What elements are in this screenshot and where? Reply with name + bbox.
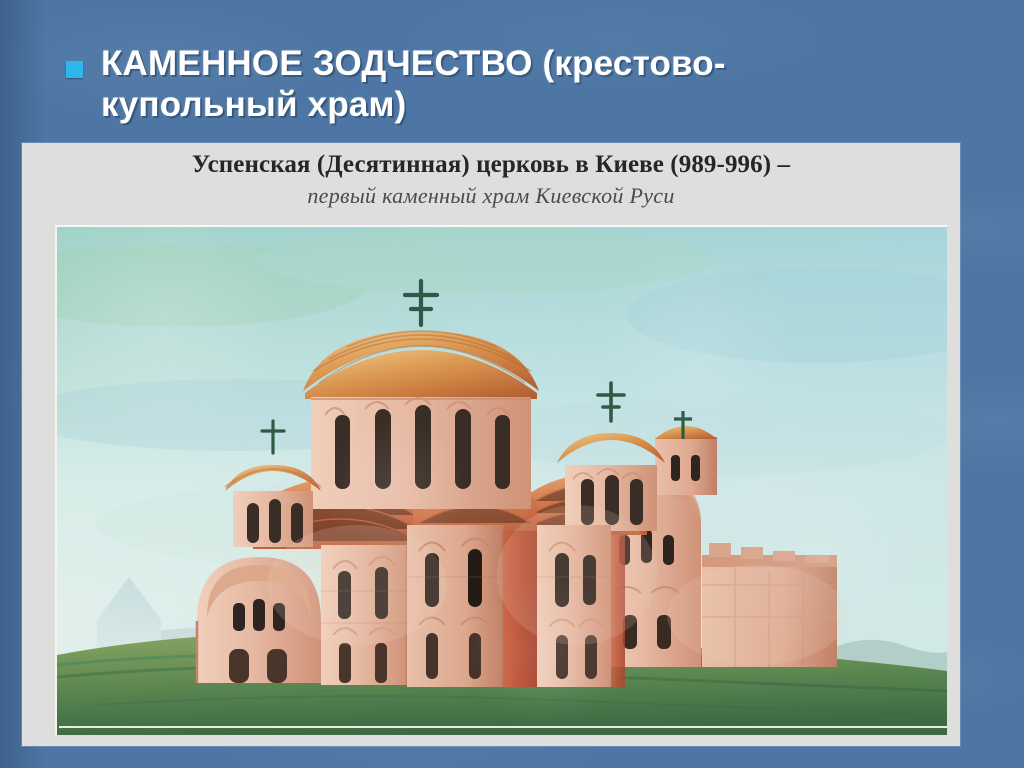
painting-top-border [57,225,947,227]
page-title: КАМЕННОЕ ЗОДЧЕСТВО (крестово- купольный … [101,44,726,125]
caption-line-2: первый каменный храм Киевской Руси [22,183,960,209]
title-line-1: КАМЕННОЕ ЗОДЧЕСТВО (крестово- [101,44,726,83]
painting-bottom-border [59,726,947,728]
figure-panel: Успенская (Десятинная) церковь в Киеве (… [22,143,960,746]
square-bullet-icon [66,61,83,78]
figure-caption: Успенская (Десятинная) церковь в Киеве (… [22,151,960,209]
caption-line-1: Успенская (Десятинная) церковь в Киеве (… [22,151,960,179]
church-watercolor-image [55,225,947,735]
title-line-2: купольный храм) [101,85,407,124]
presentation-slide: КАМЕННОЕ ЗОДЧЕСТВО (крестово- купольный … [0,0,1024,768]
church-illustration [57,225,947,735]
slide-title-block: КАМЕННОЕ ЗОДЧЕСТВО (крестово- купольный … [66,44,966,125]
